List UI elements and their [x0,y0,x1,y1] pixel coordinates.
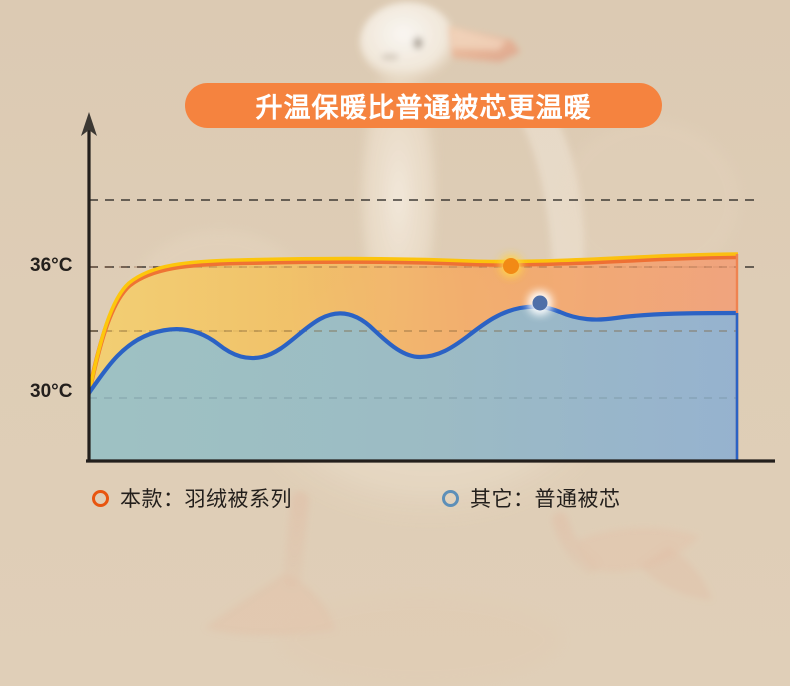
legend-ring-blue-icon [442,490,459,507]
temperature-chart [0,0,790,540]
legend-item-own-product[interactable]: 本款：羽绒被系列 [92,483,292,513]
legend-item-other-product[interactable]: 其它：普通被芯 [442,483,621,513]
y-axis-label-36: 36°C [30,255,72,277]
legend-label-other-product: 其它：普通被芯 [470,483,621,513]
headline-badge: 升温保暖比普通被芯更温暖 [185,83,662,128]
marker-orange-point[interactable] [502,257,520,275]
legend-label-own-product: 本款：羽绒被系列 [120,483,292,513]
headline-text: 升温保暖比普通被芯更温暖 [256,86,592,125]
page-root: 升温保暖比普通被芯更温暖 [0,0,790,686]
chart-legend: 本款：羽绒被系列 其它：普通被芯 [88,478,708,518]
legend-ring-orange-icon [92,490,109,507]
y-axis-label-30: 30°C [30,381,72,403]
marker-blue-point[interactable] [532,295,549,312]
